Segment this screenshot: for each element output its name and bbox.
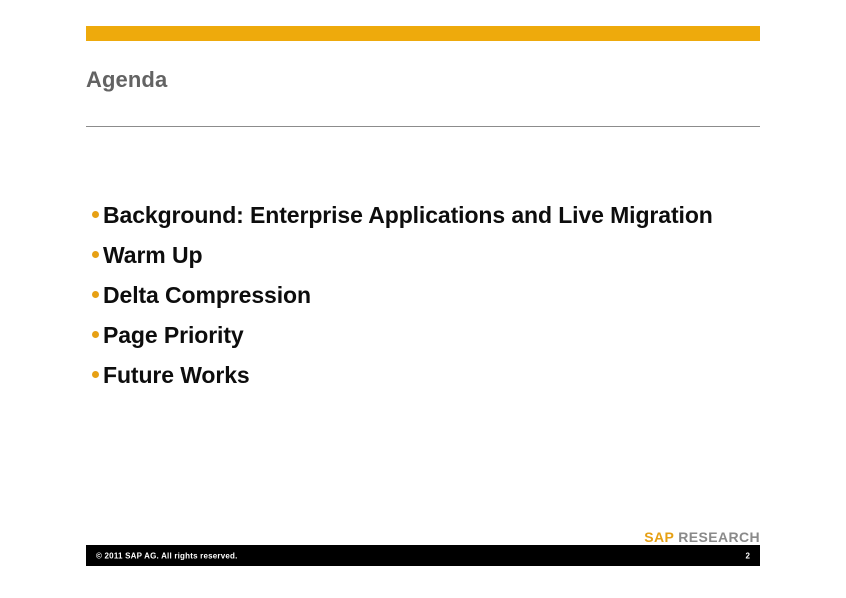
list-item: Future Works [92,364,792,404]
slide-canvas: Agenda Background: Enterprise Applicatio… [0,0,846,598]
footer-bar: © 2011 SAP AG. All rights reserved. 2 [86,545,760,566]
top-accent-bar [86,26,760,41]
bullet-dot-icon [92,211,99,218]
list-item-label: Background: Enterprise Applications and … [103,204,713,227]
bullet-dot-icon [92,331,99,338]
list-item-label: Delta Compression [103,284,311,307]
copyright-text: © 2011 SAP AG. All rights reserved. [96,551,238,560]
bullet-dot-icon [92,251,99,258]
list-item: Page Priority [92,324,792,364]
sap-research-logo: SAP RESEARCH [644,530,760,544]
brand-primary-text: SAP [644,529,674,545]
list-item: Delta Compression [92,284,792,324]
bullet-dot-icon [92,291,99,298]
list-item-label: Page Priority [103,324,244,347]
bullet-dot-icon [92,371,99,378]
page-number: 2 [746,551,750,560]
title-divider [86,126,760,127]
agenda-bullet-list: Background: Enterprise Applications and … [92,204,792,404]
list-item: Warm Up [92,244,792,284]
list-item-label: Warm Up [103,244,202,267]
page-title: Agenda [86,69,167,91]
list-item-label: Future Works [103,364,250,387]
brand-secondary-text: RESEARCH [678,529,760,545]
list-item: Background: Enterprise Applications and … [92,204,792,244]
